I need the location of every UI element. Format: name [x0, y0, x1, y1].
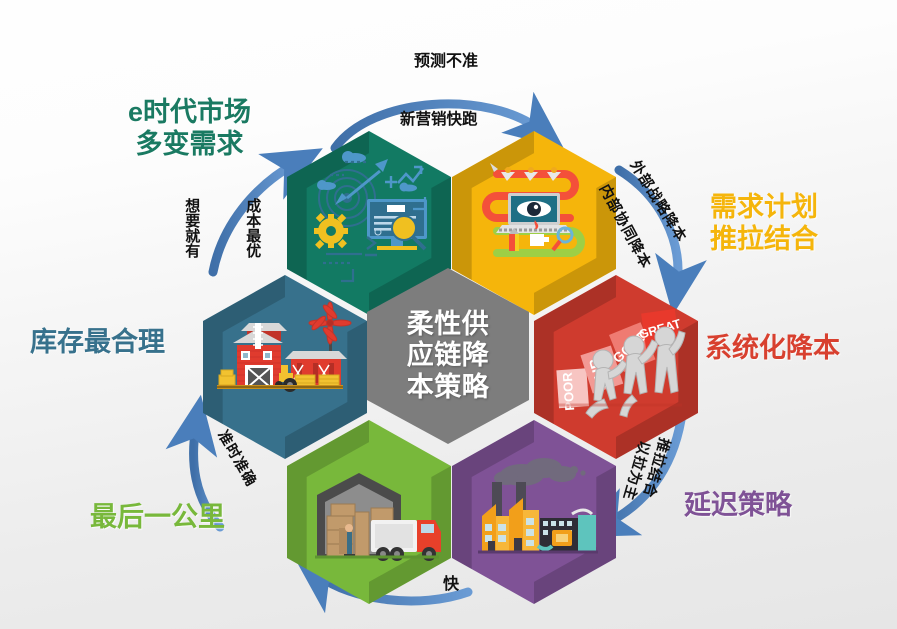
caption-cost-optimal: 成本最优: [244, 198, 261, 258]
caption-new-marketing-fast: 新营销快跑: [400, 107, 478, 129]
outer-label-demand-plan: 需求计划 推拉结合: [710, 192, 818, 256]
caption-want-and-have: 想要就有: [183, 198, 200, 258]
outer-label-last-mile: 最后一公里: [90, 502, 225, 534]
diagram-canvas: POOR FAIR GOOD GREAT: [0, 0, 897, 629]
outer-label-inventory: 库存最合理: [30, 327, 165, 359]
outer-label-market: e时代市场 多变需求: [128, 97, 251, 161]
outer-label-systematic-cost: 系统化降本: [705, 333, 840, 365]
caption-forecast-inaccurate: 预测不准: [414, 47, 478, 71]
center-label: 柔性供 应链降 本策略: [396, 309, 500, 404]
caption-fast: 快: [443, 570, 459, 594]
outer-label-postponement: 延迟策略: [684, 490, 792, 522]
